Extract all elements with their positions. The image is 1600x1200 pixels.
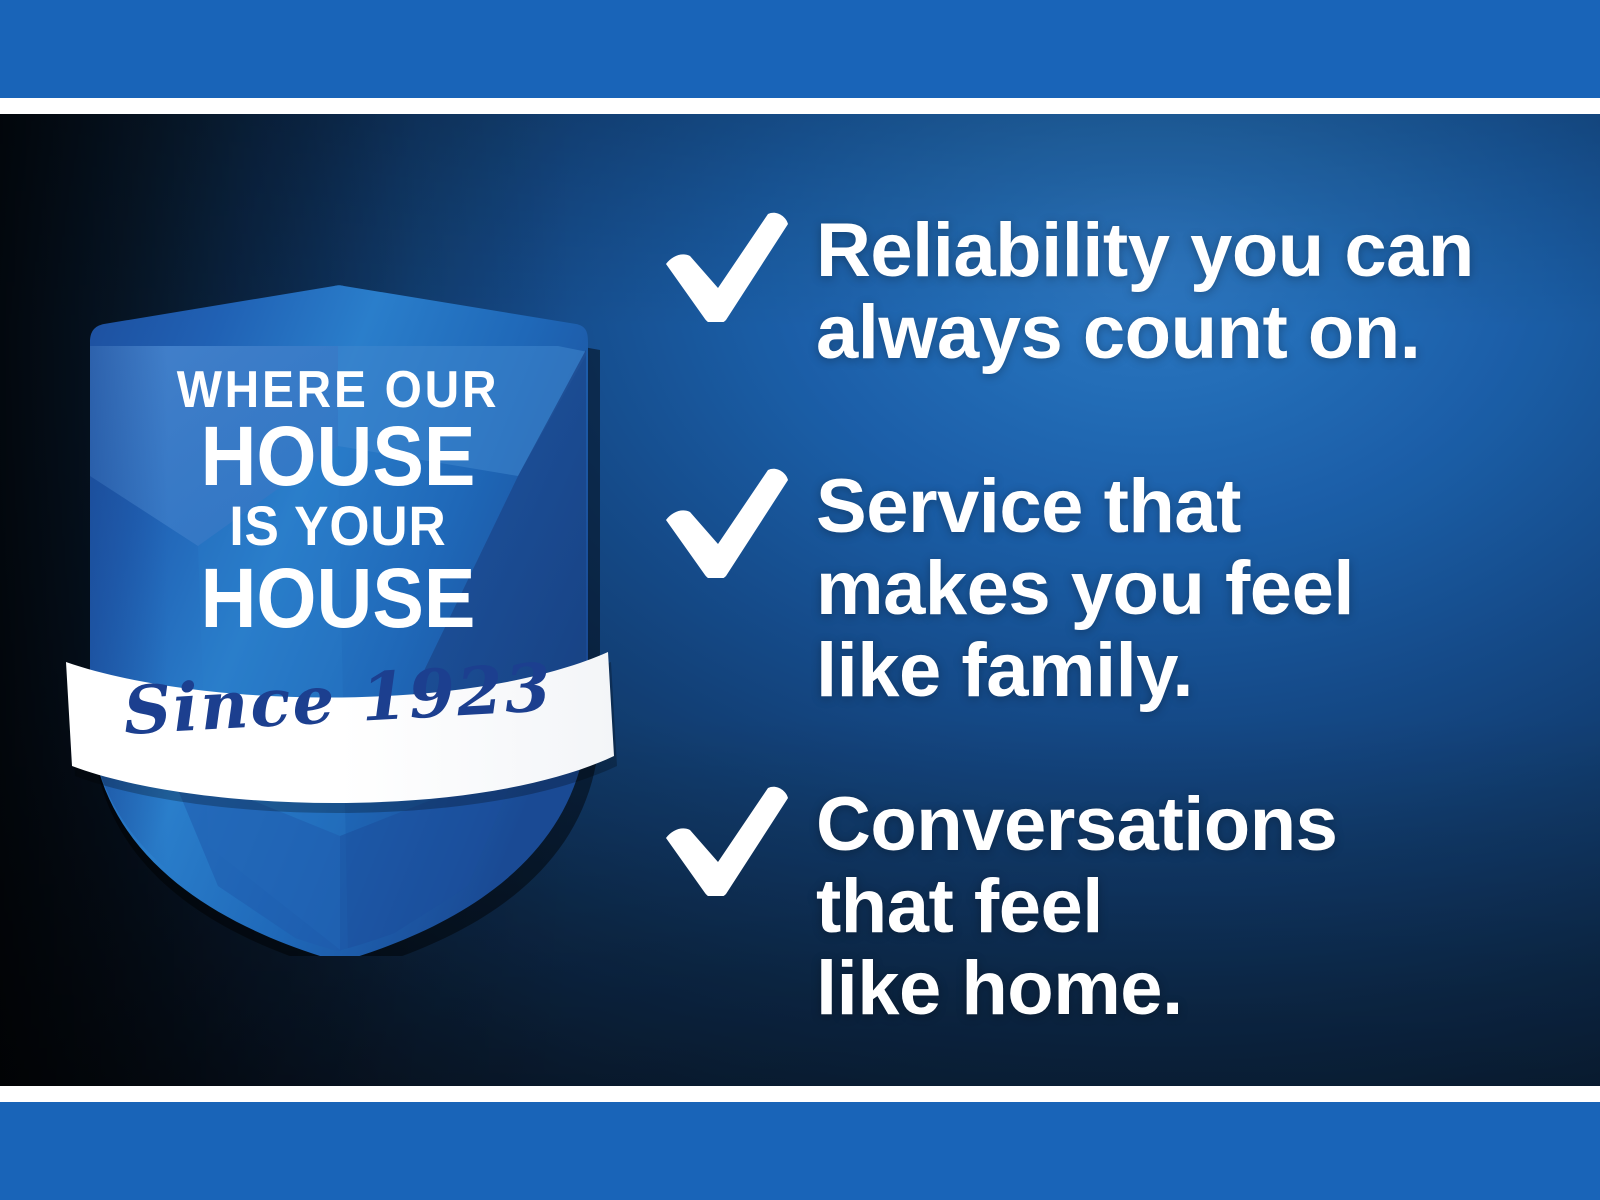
benefits-list: Reliability you can always count on. Ser… — [660, 114, 1540, 1086]
benefit-item: Conversations that feel like home. — [660, 784, 1337, 1030]
checkmark-icon — [660, 212, 792, 322]
checkmark-icon — [660, 468, 792, 578]
checkmark-icon — [660, 786, 792, 896]
bottom-white-divider — [0, 1086, 1600, 1102]
benefit-text: Service that makes you feel like family. — [816, 466, 1354, 712]
shield-badge: WHERE OUR HOUSE IS YOUR HOUSE Since 1923 — [48, 146, 628, 956]
benefit-text: Reliability you can always count on. — [816, 210, 1474, 374]
top-brand-bar — [0, 0, 1600, 98]
benefit-item: Service that makes you feel like family. — [660, 466, 1354, 712]
benefit-item: Reliability you can always count on. — [660, 210, 1474, 374]
bottom-brand-bar — [0, 1102, 1600, 1200]
benefit-text: Conversations that feel like home. — [816, 784, 1337, 1030]
promo-graphic: WHERE OUR HOUSE IS YOUR HOUSE Since 1923… — [0, 0, 1600, 1200]
top-white-divider — [0, 98, 1600, 114]
